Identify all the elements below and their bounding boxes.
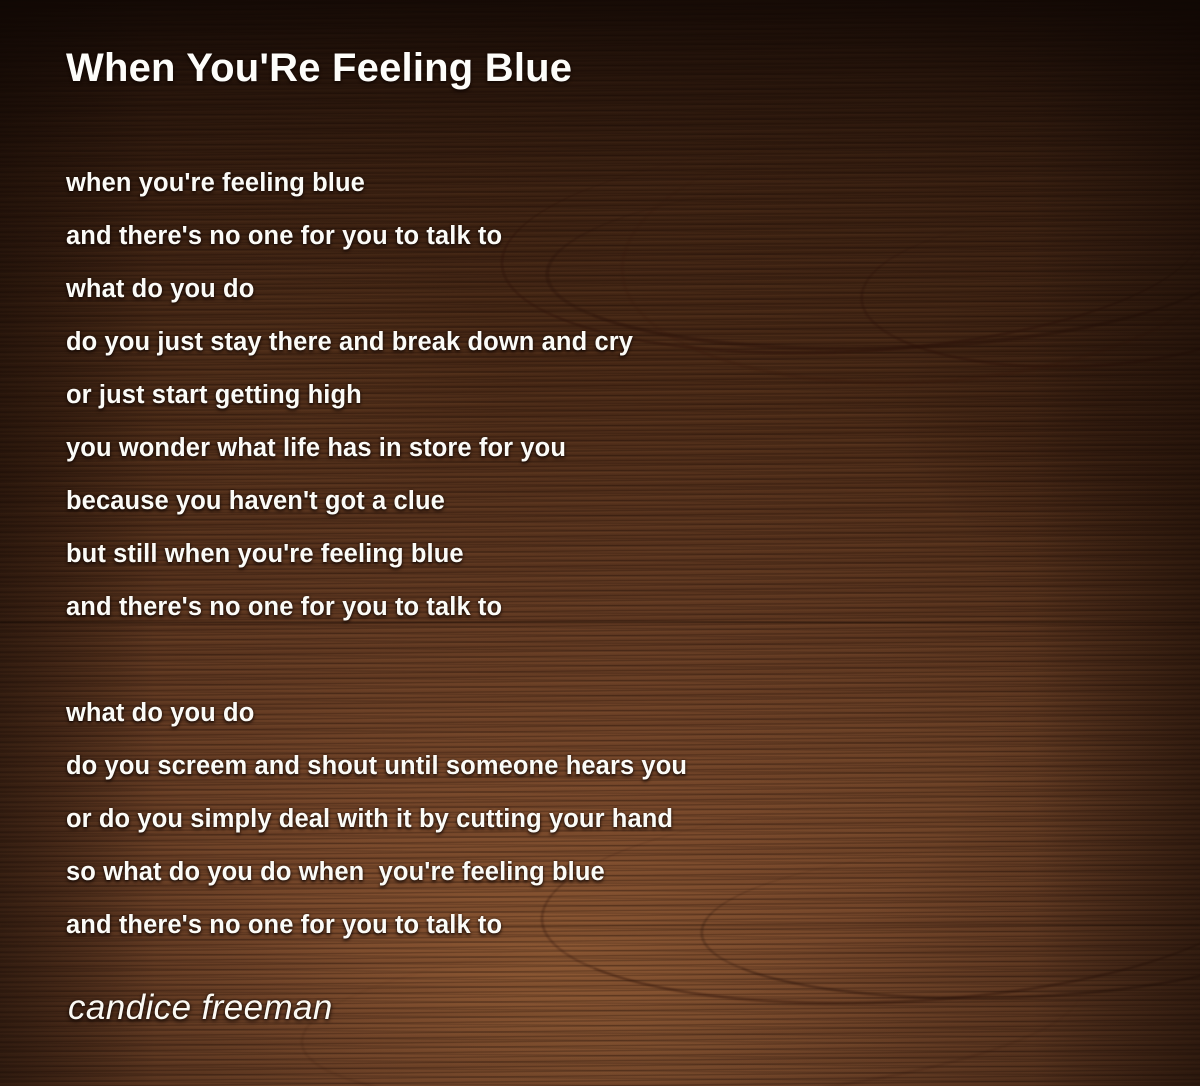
poem-line: when you're feeling blue [66,157,1160,210]
poem-line: but still when you're feeling blue [66,528,1160,581]
poem-content: When You'Re Feeling Blue when you're fee… [0,0,1200,1086]
poem-stanza-break [66,634,1160,687]
poem-line: or do you simply deal with it by cutting… [66,793,1160,846]
poem-line: do you just stay there and break down an… [66,316,1160,369]
poem-line: and there's no one for you to talk to [66,210,1160,263]
poem-image-card: When You'Re Feeling Blue when you're fee… [0,0,1200,1086]
poem-line: what do you do [66,687,1160,740]
poem-line: and there's no one for you to talk to [66,899,1160,952]
poem-line: so what do you do when you're feeling bl… [66,846,1160,899]
poem-line: because you haven't got a clue [66,475,1160,528]
poem-line: and there's no one for you to talk to [66,581,1160,634]
poem-body: when you're feeling blue and there's no … [66,157,1160,952]
poem-title: When You'Re Feeling Blue [66,46,572,91]
poem-line: what do you do [66,263,1160,316]
poem-line: you wonder what life has in store for yo… [66,422,1160,475]
poem-author-signature: candice freeman [68,988,333,1028]
poem-line: or just start getting high [66,369,1160,422]
poem-line: do you screem and shout until someone he… [66,740,1160,793]
